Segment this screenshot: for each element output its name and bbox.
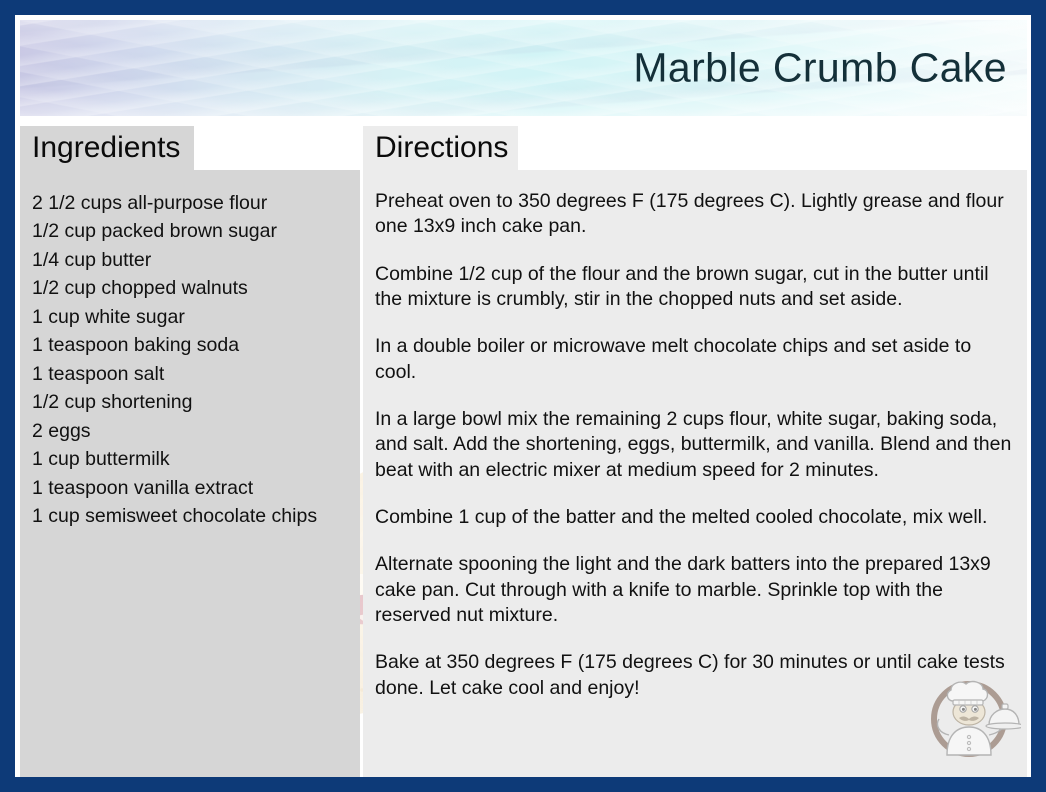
directions-panel: Directions Preheat oven to 350 degrees F… bbox=[363, 126, 1027, 777]
list-item: 1/4 cup butter bbox=[32, 246, 346, 274]
list-item: 1/2 cup packed brown sugar bbox=[32, 217, 346, 245]
ingredient-list: 2 1/2 cups all-purpose flour 1/2 cup pac… bbox=[32, 189, 346, 531]
direction-step: Preheat oven to 350 degrees F (175 degre… bbox=[375, 189, 1013, 240]
direction-step: Alternate spooning the light and the dar… bbox=[375, 552, 1013, 628]
directions-body: Preheat oven to 350 degrees F (175 degre… bbox=[363, 170, 1027, 777]
list-item: 2 eggs bbox=[32, 417, 346, 445]
ingredients-heading: Ingredients bbox=[32, 133, 180, 163]
list-item: 1/2 cup shortening bbox=[32, 388, 346, 416]
directions-tab: Directions bbox=[363, 126, 518, 170]
header-banner: Marble Crumb Cake bbox=[20, 20, 1027, 116]
page-title: Marble Crumb Cake bbox=[633, 45, 1007, 92]
direction-step: In a large bowl mix the remaining 2 cups… bbox=[375, 407, 1013, 483]
ingredients-tab-row: Ingredients bbox=[20, 126, 360, 170]
recipe-card: Marble Crumb Cake bbox=[0, 0, 1046, 792]
direction-step: Combine 1/2 cup of the flour and the bro… bbox=[375, 262, 1013, 313]
list-item: 1 cup white sugar bbox=[32, 303, 346, 331]
list-item: 1/2 cup chopped walnuts bbox=[32, 274, 346, 302]
direction-step: Bake at 350 degrees F (175 degrees C) fo… bbox=[375, 650, 1013, 701]
list-item: 1 cup semisweet chocolate chips bbox=[32, 502, 346, 530]
directions-heading: Directions bbox=[375, 133, 508, 163]
list-item: 1 teaspoon baking soda bbox=[32, 331, 346, 359]
ingredients-tab: Ingredients bbox=[20, 126, 194, 170]
list-item: 1 cup buttermilk bbox=[32, 445, 346, 473]
list-item: 1 teaspoon vanilla extract bbox=[32, 474, 346, 502]
direction-step: Combine 1 cup of the batter and the melt… bbox=[375, 505, 1013, 530]
list-item: 1 teaspoon salt bbox=[32, 360, 346, 388]
recipe-sheet: Marble Crumb Cake bbox=[15, 15, 1031, 777]
direction-step: In a double boiler or microwave melt cho… bbox=[375, 334, 1013, 385]
direction-step-list: Preheat oven to 350 degrees F (175 degre… bbox=[375, 189, 1013, 701]
list-item: 2 1/2 cups all-purpose flour bbox=[32, 189, 346, 217]
ingredients-body: 2 1/2 cups all-purpose flour 1/2 cup pac… bbox=[20, 170, 360, 777]
directions-tab-row: Directions bbox=[363, 126, 1027, 170]
ingredients-panel: Ingredients 2 1/2 cups all-purpose flour… bbox=[20, 126, 360, 777]
content-panels: Ingredients 2 1/2 cups all-purpose flour… bbox=[20, 126, 1027, 777]
